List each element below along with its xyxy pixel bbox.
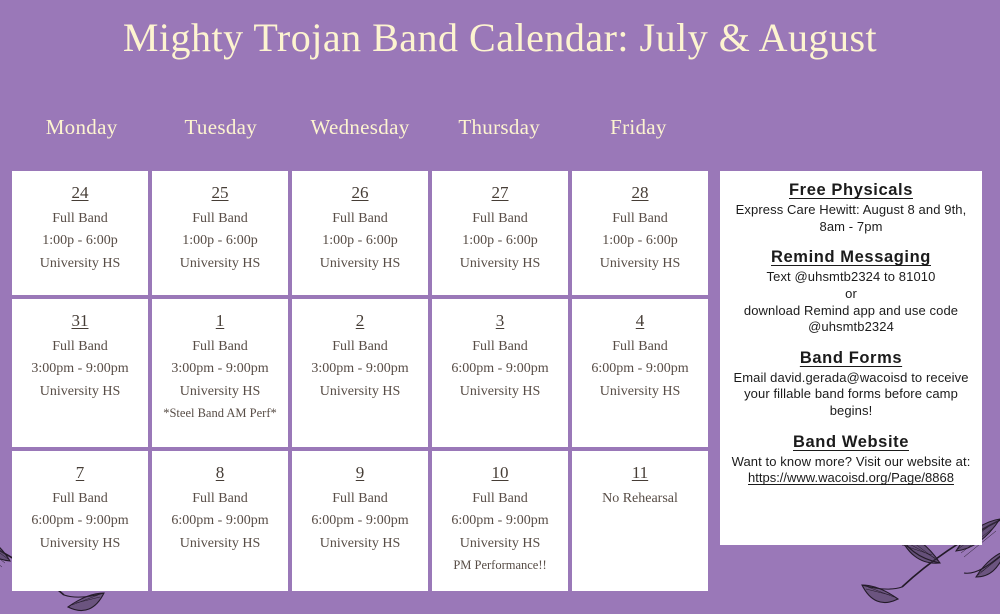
weekday-header-row: Monday Tuesday Wednesday Thursday Friday <box>12 115 708 140</box>
calendar-event-line: University HS <box>180 533 261 555</box>
calendar-cell: 26Full Band1:00p - 6:00pUniversity HS <box>292 171 428 295</box>
calendar-event-line: University HS <box>180 381 261 403</box>
calendar-day-number: 4 <box>636 311 645 331</box>
calendar-day-number: 28 <box>632 183 649 203</box>
calendar-day-number: 2 <box>356 311 365 331</box>
calendar-event-line: 3:00pm - 9:00pm <box>31 358 128 380</box>
remind-messaging-heading: Remind Messaging <box>728 248 974 267</box>
calendar-event-line: University HS <box>460 381 541 403</box>
calendar-day-number: 9 <box>356 463 365 483</box>
info-section-band-forms: Band Forms Email david.gerada@wacoisd to… <box>728 349 974 420</box>
calendar-day-number: 25 <box>212 183 229 203</box>
calendar-day-number: 31 <box>72 311 89 331</box>
info-section-band-website: Band Website Want to know more? Visit ou… <box>728 433 974 487</box>
calendar-event-line: 6:00pm - 9:00pm <box>451 510 548 532</box>
calendar-event-line: University HS <box>320 381 401 403</box>
free-physicals-body: Express Care Hewitt: August 8 and 9th, 8… <box>728 202 974 235</box>
weekday-tuesday: Tuesday <box>151 115 290 140</box>
band-website-heading: Band Website <box>728 433 974 452</box>
calendar-event-line: Full Band <box>192 208 248 230</box>
band-website-link[interactable]: https://www.wacoisd.org/Page/8868 <box>728 470 974 487</box>
calendar-cell: 3Full Band6:00pm - 9:00pmUniversity HS <box>432 299 568 447</box>
calendar-cell: 28Full Band1:00p - 6:00pUniversity HS <box>572 171 708 295</box>
weekday-wednesday: Wednesday <box>290 115 429 140</box>
calendar-cell: 4Full Band6:00pm - 9:00pmUniversity HS <box>572 299 708 447</box>
calendar-event-line: University HS <box>320 253 401 275</box>
calendar-cell: 25Full Band1:00p - 6:00pUniversity HS <box>152 171 288 295</box>
weekday-monday: Monday <box>12 115 151 140</box>
calendar-event-line: 3:00pm - 9:00pm <box>311 358 408 380</box>
calendar-cell: 8Full Band6:00pm - 9:00pmUniversity HS <box>152 451 288 591</box>
calendar-cell: 11No Rehearsal <box>572 451 708 591</box>
calendar-event-line: Full Band <box>332 488 388 510</box>
calendar-cell: 1Full Band3:00pm - 9:00pmUniversity HS*S… <box>152 299 288 447</box>
calendar-event-line: Full Band <box>192 488 248 510</box>
calendar-event-line: 6:00pm - 9:00pm <box>311 510 408 532</box>
calendar-event-line: Full Band <box>332 336 388 358</box>
calendar-event-line: University HS <box>320 533 401 555</box>
info-panel: Free Physicals Express Care Hewitt: Augu… <box>720 171 982 545</box>
calendar-event-line: Full Band <box>192 336 248 358</box>
calendar-event-note: PM Performance!! <box>453 555 546 575</box>
calendar-cell: 24Full Band1:00p - 6:00pUniversity HS <box>12 171 148 295</box>
calendar-event-line: 6:00pm - 9:00pm <box>171 510 268 532</box>
calendar-day-number: 7 <box>76 463 85 483</box>
calendar-event-line: Full Band <box>472 208 528 230</box>
calendar-cell: 31Full Band3:00pm - 9:00pmUniversity HS <box>12 299 148 447</box>
calendar-event-line: 1:00p - 6:00p <box>462 230 537 252</box>
weekday-thursday: Thursday <box>430 115 569 140</box>
calendar-event-line: 6:00pm - 9:00pm <box>31 510 128 532</box>
calendar-day-number: 26 <box>352 183 369 203</box>
calendar-event-line: Full Band <box>472 488 528 510</box>
calendar-event-line: 1:00p - 6:00p <box>602 230 677 252</box>
calendar-event-line: Full Band <box>52 208 108 230</box>
calendar-cell: 2Full Band3:00pm - 9:00pmUniversity HS <box>292 299 428 447</box>
calendar-event-line: University HS <box>460 253 541 275</box>
calendar-event-line: No Rehearsal <box>602 488 678 510</box>
remind-line-1: Text @uhsmtb2324 to 81010 <box>728 269 974 286</box>
band-forms-body: Email david.gerada@wacoisd to receive yo… <box>728 370 974 420</box>
calendar-day-number: 11 <box>632 463 648 483</box>
band-website-body: Want to know more? Visit our website at: <box>728 454 974 471</box>
calendar-event-line: 6:00pm - 9:00pm <box>451 358 548 380</box>
calendar-event-line: Full Band <box>52 488 108 510</box>
info-section-remind: Remind Messaging Text @uhsmtb2324 to 810… <box>728 248 974 336</box>
calendar-event-line: University HS <box>600 381 681 403</box>
remind-line-2: or <box>728 286 974 303</box>
calendar-event-line: 1:00p - 6:00p <box>182 230 257 252</box>
band-forms-heading: Band Forms <box>728 349 974 368</box>
weekday-friday: Friday <box>569 115 708 140</box>
calendar-day-number: 3 <box>496 311 505 331</box>
free-physicals-heading: Free Physicals <box>728 181 974 200</box>
calendar-event-line: 1:00p - 6:00p <box>322 230 397 252</box>
calendar-event-line: University HS <box>40 381 121 403</box>
calendar-event-line: University HS <box>460 533 541 555</box>
calendar-cell: 9Full Band6:00pm - 9:00pmUniversity HS <box>292 451 428 591</box>
calendar-day-number: 27 <box>492 183 509 203</box>
calendar-day-number: 24 <box>72 183 89 203</box>
calendar-day-number: 10 <box>492 463 509 483</box>
page-title: Mighty Trojan Band Calendar: July & Augu… <box>0 14 1000 61</box>
calendar-event-line: University HS <box>40 533 121 555</box>
calendar-event-line: Full Band <box>612 208 668 230</box>
remind-line-3: download Remind app and use code @uhsmtb… <box>728 303 974 336</box>
calendar-cell: 10Full Band6:00pm - 9:00pmUniversity HSP… <box>432 451 568 591</box>
calendar-event-line: 3:00pm - 9:00pm <box>171 358 268 380</box>
calendar-day-number: 8 <box>216 463 225 483</box>
calendar-event-line: 1:00p - 6:00p <box>42 230 117 252</box>
calendar-event-line: Full Band <box>52 336 108 358</box>
calendar-cell: 7Full Band6:00pm - 9:00pmUniversity HS <box>12 451 148 591</box>
calendar-event-line: University HS <box>180 253 261 275</box>
calendar-cell: 27Full Band1:00p - 6:00pUniversity HS <box>432 171 568 295</box>
calendar-event-line: Full Band <box>612 336 668 358</box>
calendar-event-line: Full Band <box>472 336 528 358</box>
calendar-event-line: Full Band <box>332 208 388 230</box>
calendar-grid: 24Full Band1:00p - 6:00pUniversity HS25F… <box>12 171 708 583</box>
calendar-event-note: *Steel Band AM Perf* <box>163 403 277 423</box>
calendar-event-line: University HS <box>40 253 121 275</box>
calendar-day-number: 1 <box>216 311 225 331</box>
calendar-event-line: University HS <box>600 253 681 275</box>
info-section-physicals: Free Physicals Express Care Hewitt: Augu… <box>728 181 974 235</box>
calendar-event-line: 6:00pm - 9:00pm <box>591 358 688 380</box>
